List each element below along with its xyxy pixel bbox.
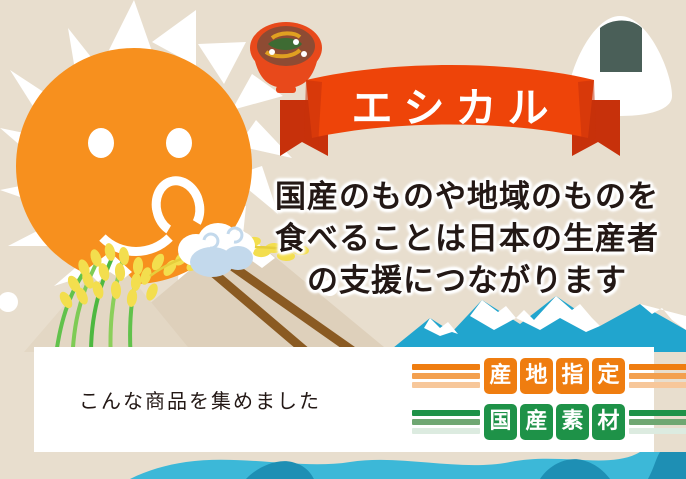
badge-char: 国 <box>484 404 517 440</box>
promo-banner: エシカル 国産のものや地域のものを 食べることは日本の生産者 の支援につながりま… <box>0 0 686 479</box>
headline-line-1: 国産のものや地域のものを <box>262 176 672 218</box>
badge-char: 素 <box>556 404 589 440</box>
badge-sanchi-shitei[interactable]: 産 地 指 定 <box>412 357 686 395</box>
bottom-panel: こんな商品を集めました 産 地 指 定 <box>34 347 654 452</box>
badge-bars-right <box>629 364 686 388</box>
badge-chips: 産 地 指 定 <box>484 358 625 394</box>
badge-stack: 産 地 指 定 国 産 <box>412 357 686 441</box>
panel-caption: こんな商品を集めました <box>79 385 321 414</box>
blue-waves-icon <box>0 452 686 479</box>
badge-char: 指 <box>556 358 589 394</box>
ribbon-label: エシカル <box>280 74 620 134</box>
headline-line-2: 食べることは日本の生産者 <box>262 218 672 260</box>
badge-chips: 国 産 素 材 <box>484 404 625 440</box>
badge-char: 産 <box>520 404 553 440</box>
badge-bars-left <box>412 364 480 388</box>
headline-text: 国産のものや地域のものを 食べることは日本の生産者 の支援につながります <box>262 176 672 302</box>
badge-bars-right <box>629 410 686 434</box>
blue-mountain-icon <box>388 296 686 352</box>
ribbon-banner: エシカル <box>280 60 620 160</box>
decor-dot <box>0 292 18 312</box>
badge-char: 定 <box>592 358 625 394</box>
badge-bars-left <box>412 410 480 434</box>
badge-char: 産 <box>484 358 517 394</box>
headline-line-3: の支援につながります <box>262 260 672 302</box>
badge-kokusan-sozai[interactable]: 国 産 素 材 <box>412 403 686 441</box>
badge-char: 材 <box>592 404 625 440</box>
badge-char: 地 <box>520 358 553 394</box>
